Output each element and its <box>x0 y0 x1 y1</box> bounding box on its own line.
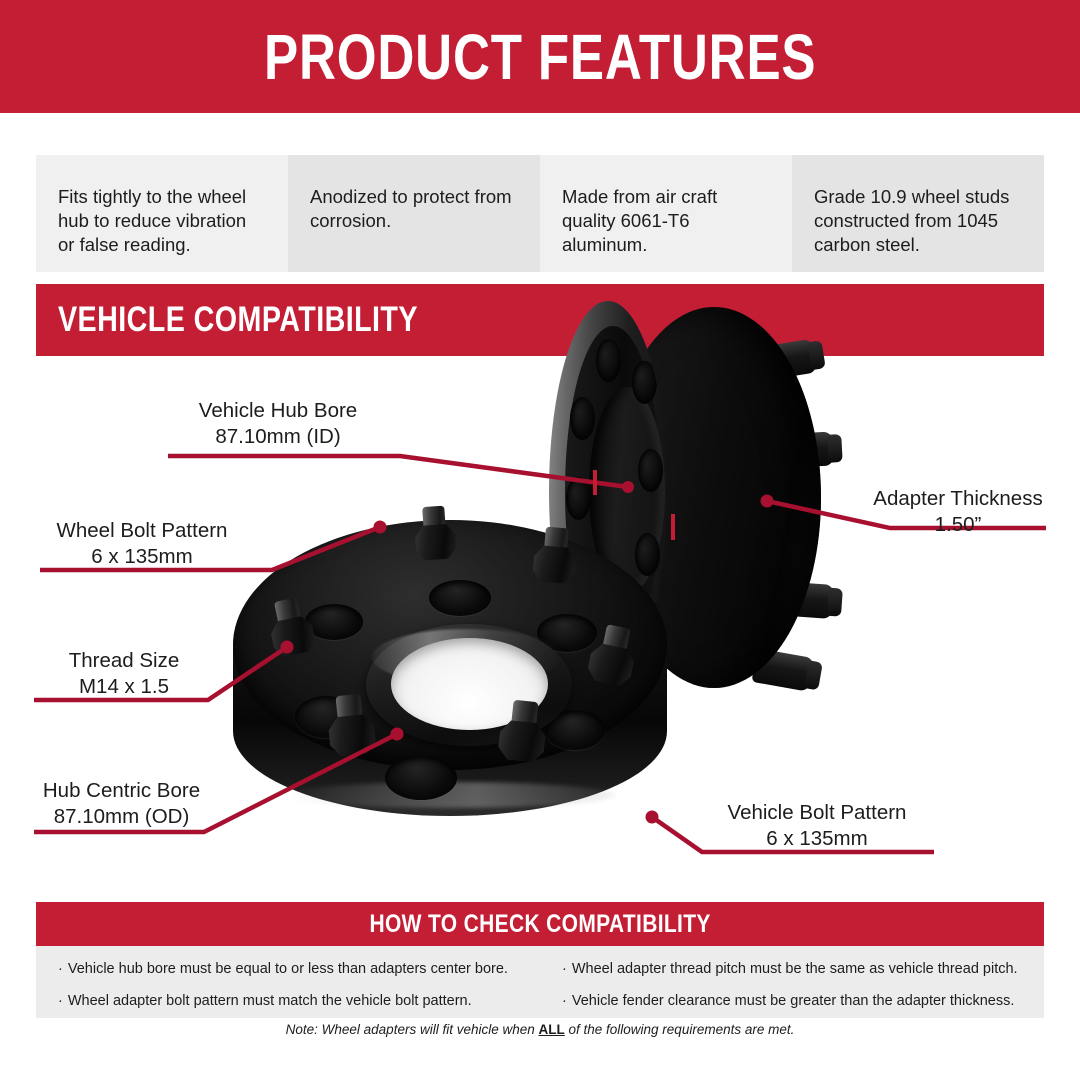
requirement-text: Vehicle hub bore must be equal to or les… <box>68 961 508 977</box>
bolt-hole <box>385 756 457 800</box>
page-header: PRODUCT FEATURES <box>0 0 1080 113</box>
feature-text-3: Made from air craft quality 6061-T6 alum… <box>562 186 717 255</box>
feature-text-4: Grade 10.9 wheel studs constructed from … <box>814 186 1009 255</box>
requirement-text: Vehicle fender clearance must be greater… <box>572 993 1015 1009</box>
footer-note-prefix: Note: Wheel adapters will fit vehicle wh… <box>286 1022 539 1037</box>
callout-vehicle-bolt-pattern-line2: 6 x 135mm <box>722 826 912 852</box>
requirement-item: ·Vehicle fender clearance must be greate… <box>562 992 1038 1010</box>
callout-vehicle-hub-bore: Vehicle Hub Bore 87.10mm (ID) <box>190 398 366 450</box>
bolt-hole <box>632 361 657 404</box>
how-to-check-title: HOW TO CHECK COMPATIBILITY <box>369 912 710 937</box>
stud <box>325 693 377 758</box>
requirement-text: Wheel adapter thread pitch must be the s… <box>572 961 1018 977</box>
callout-vehicle-hub-bore-line1: Vehicle Hub Bore <box>199 399 357 422</box>
bolt-hole <box>570 397 595 440</box>
flat-adapter-top-face <box>233 520 667 770</box>
callout-adapter-thickness-line2: 1.50” <box>868 512 1048 538</box>
stud <box>497 699 549 764</box>
requirement-item: ·Wheel adapter thread pitch must be the … <box>562 960 1038 978</box>
how-to-check-banner: HOW TO CHECK COMPATIBILITY <box>36 902 1044 946</box>
bullet-icon: · <box>562 993 567 1009</box>
requirements-column-right: ·Wheel adapter thread pitch must be the … <box>540 946 1044 1018</box>
stud <box>532 526 578 585</box>
callout-vehicle-bolt-pattern: Vehicle Bolt Pattern 6 x 135mm <box>722 800 912 852</box>
callout-wheel-bolt-pattern-line1: Wheel Bolt Pattern <box>57 519 228 542</box>
callout-thread-size-line1: Thread Size <box>69 649 180 672</box>
callout-thread-size: Thread Size M14 x 1.5 <box>54 648 194 700</box>
callout-adapter-thickness-line1: Adapter Thickness <box>873 487 1042 510</box>
requirements-panel: ·Vehicle hub bore must be equal to or le… <box>36 946 1044 1018</box>
requirements-column-left: ·Vehicle hub bore must be equal to or le… <box>36 946 540 1018</box>
feature-strip: Fits tightly to the wheel hub to reduce … <box>36 155 1044 272</box>
callout-wheel-bolt-pattern: Wheel Bolt Pattern 6 x 135mm <box>52 518 232 570</box>
feature-cell-4: Grade 10.9 wheel studs constructed from … <box>792 155 1044 272</box>
stud <box>413 505 457 561</box>
page-title: PRODUCT FEATURES <box>264 25 816 89</box>
requirement-text: Wheel adapter bolt pattern must match th… <box>68 993 472 1009</box>
callout-vehicle-hub-bore-line2: 87.10mm (ID) <box>190 424 366 450</box>
feature-text-1: Fits tightly to the wheel hub to reduce … <box>58 186 246 255</box>
bolt-hole <box>429 580 491 616</box>
footer-note: Note: Wheel adapters will fit vehicle wh… <box>36 1022 1044 1037</box>
bolt-hole <box>596 339 621 382</box>
callout-adapter-thickness: Adapter Thickness 1.50” <box>868 486 1048 538</box>
callout-thread-size-line2: M14 x 1.5 <box>54 674 194 700</box>
callout-hub-centric-bore-line2: 87.10mm (OD) <box>34 804 209 830</box>
callout-hub-centric-bore: Hub Centric Bore 87.10mm (OD) <box>34 778 209 830</box>
feature-cell-2: Anodized to protect from corrosion. <box>288 155 540 272</box>
feature-text-2: Anodized to protect from corrosion. <box>310 186 512 231</box>
feature-cell-1: Fits tightly to the wheel hub to reduce … <box>36 155 288 272</box>
requirement-item: ·Vehicle hub bore must be equal to or le… <box>58 960 534 978</box>
bullet-icon: · <box>562 961 567 977</box>
footer-note-emphasis: ALL <box>539 1022 565 1037</box>
callout-hub-centric-bore-line1: Hub Centric Bore <box>43 779 200 802</box>
callout-vehicle-bolt-pattern-line1: Vehicle Bolt Pattern <box>728 801 907 824</box>
bullet-icon: · <box>58 993 63 1009</box>
callout-wheel-bolt-pattern-line2: 6 x 135mm <box>52 544 232 570</box>
flat-wheel-adapter-image <box>215 480 685 880</box>
feature-cell-3: Made from air craft quality 6061-T6 alum… <box>540 155 792 272</box>
requirement-item: ·Wheel adapter bolt pattern must match t… <box>58 992 534 1010</box>
footer-note-suffix: of the following requirements are met. <box>565 1022 795 1037</box>
bullet-icon: · <box>58 961 63 977</box>
stud <box>265 595 318 658</box>
